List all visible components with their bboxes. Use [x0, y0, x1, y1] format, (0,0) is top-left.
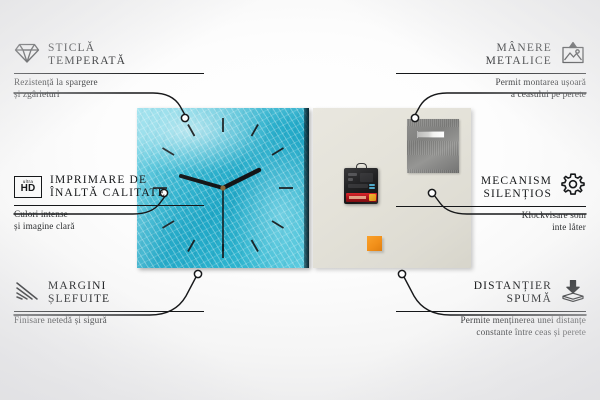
ultra-hd-icon: ultra HD: [14, 176, 42, 198]
battery-label: [349, 196, 366, 199]
callout-edges-head: MARGINI ȘLEFUITE: [14, 278, 204, 308]
callout-handles-rule: [396, 73, 586, 74]
battery-plus-terminal: [369, 194, 376, 201]
callout-glass-title: STICLĂ TEMPERATĂ: [48, 42, 126, 68]
foam-spacer: [367, 236, 382, 251]
infographic-canvas: STICLĂ TEMPERATĂ Rezistență la spargere …: [0, 0, 600, 400]
callout-spacer-title: DISTANȚIER SPUMĂ: [474, 280, 552, 306]
callout-glass: STICLĂ TEMPERATĂ Rezistență la spargere …: [14, 40, 204, 100]
diamond-icon: [14, 42, 40, 69]
quartz-mechanism: [344, 168, 378, 204]
foam-spacer-icon: [560, 279, 586, 308]
battery: [346, 193, 377, 202]
callout-mechanism-head: MECANISM SILENȚIOS: [396, 172, 586, 203]
callout-print-title: IMPRIMARE DE ÎNALTĂ CALITATE: [50, 174, 166, 200]
callout-mechanism: MECANISM SILENȚIOS Klockvisare som inte …: [396, 172, 586, 233]
polished-edges-icon: [14, 280, 40, 307]
callout-spacer: DISTANȚIER SPUMĂ Permite menținerea unei…: [396, 278, 586, 338]
mechanism-detail: [369, 187, 375, 189]
callout-mechanism-title: MECANISM SILENȚIOS: [481, 175, 552, 201]
callout-edges-rule: [14, 311, 204, 312]
callout-mechanism-rule: [396, 206, 586, 207]
callout-edges: MARGINI ȘLEFUITE Finisare netedă și sigu…: [14, 278, 204, 327]
callout-spacer-rule: [396, 311, 586, 312]
callout-mechanism-subtitle: Klockvisare som inte låter: [396, 210, 586, 233]
mechanism-detail: [348, 178, 353, 181]
mechanism-detail: [360, 173, 373, 182]
mechanism-body: [344, 168, 378, 204]
callout-handles-subtitle: Permit montarea ușoară a ceasului pe per…: [396, 77, 586, 100]
connector-dot-spacer: [398, 270, 405, 277]
callout-glass-head: STICLĂ TEMPERATĂ: [14, 40, 204, 70]
picture-hanger-icon: [560, 41, 586, 70]
callout-handles-title: MÂNERE METALICE: [486, 42, 552, 68]
connector-dot-edges: [194, 270, 201, 277]
callout-print-subtitle: Culori intense și imagine clară: [14, 209, 204, 232]
callout-edges-subtitle: Finisare netedă și sigură: [14, 315, 204, 327]
callout-edges-title: MARGINI ȘLEFUITE: [48, 280, 110, 306]
callout-glass-subtitle: Rezistență la spargere și zgârieturi: [14, 77, 204, 100]
gear-icon: [560, 172, 586, 203]
callout-glass-rule: [14, 73, 204, 74]
callout-spacer-head: DISTANȚIER SPUMĂ: [396, 278, 586, 308]
mechanism-detail: [348, 184, 368, 188]
callout-print-head: ultra HD IMPRIMARE DE ÎNALTĂ CALITATE: [14, 172, 204, 202]
callout-print-rule: [14, 205, 204, 206]
metal-hanger-plate: [407, 119, 459, 173]
mechanism-detail: [348, 173, 357, 176]
clock-side-edge: [304, 108, 309, 268]
callout-handles: MÂNERE METALICE Permit montarea ușoară a…: [396, 40, 586, 100]
callout-print: ultra HD IMPRIMARE DE ÎNALTĂ CALITATE Cu…: [14, 172, 204, 232]
callout-spacer-subtitle: Permite menținerea unei distanțe constan…: [396, 315, 586, 338]
callout-handles-head: MÂNERE METALICE: [396, 40, 586, 70]
mechanism-detail: [369, 184, 375, 186]
hanger-slot: [417, 131, 445, 138]
